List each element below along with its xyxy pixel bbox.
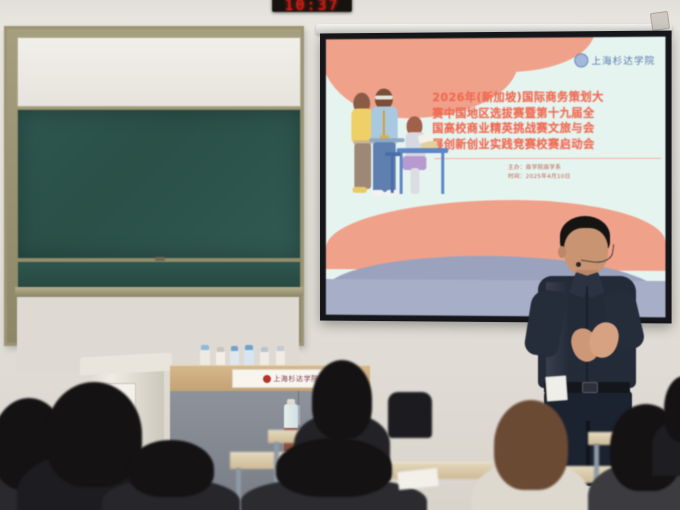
audience-layer [0,0,680,510]
student-head-5 [276,438,392,497]
classroom-photo-scene: 10:37 上海杉达学院 2026年(新加坡)国际商务策划大 [0,0,680,510]
student-head-3 [128,440,214,497]
student-head-6 [494,400,568,490]
backpack [388,392,432,438]
student-head-4 [312,360,372,439]
student-head-8 [664,376,680,442]
